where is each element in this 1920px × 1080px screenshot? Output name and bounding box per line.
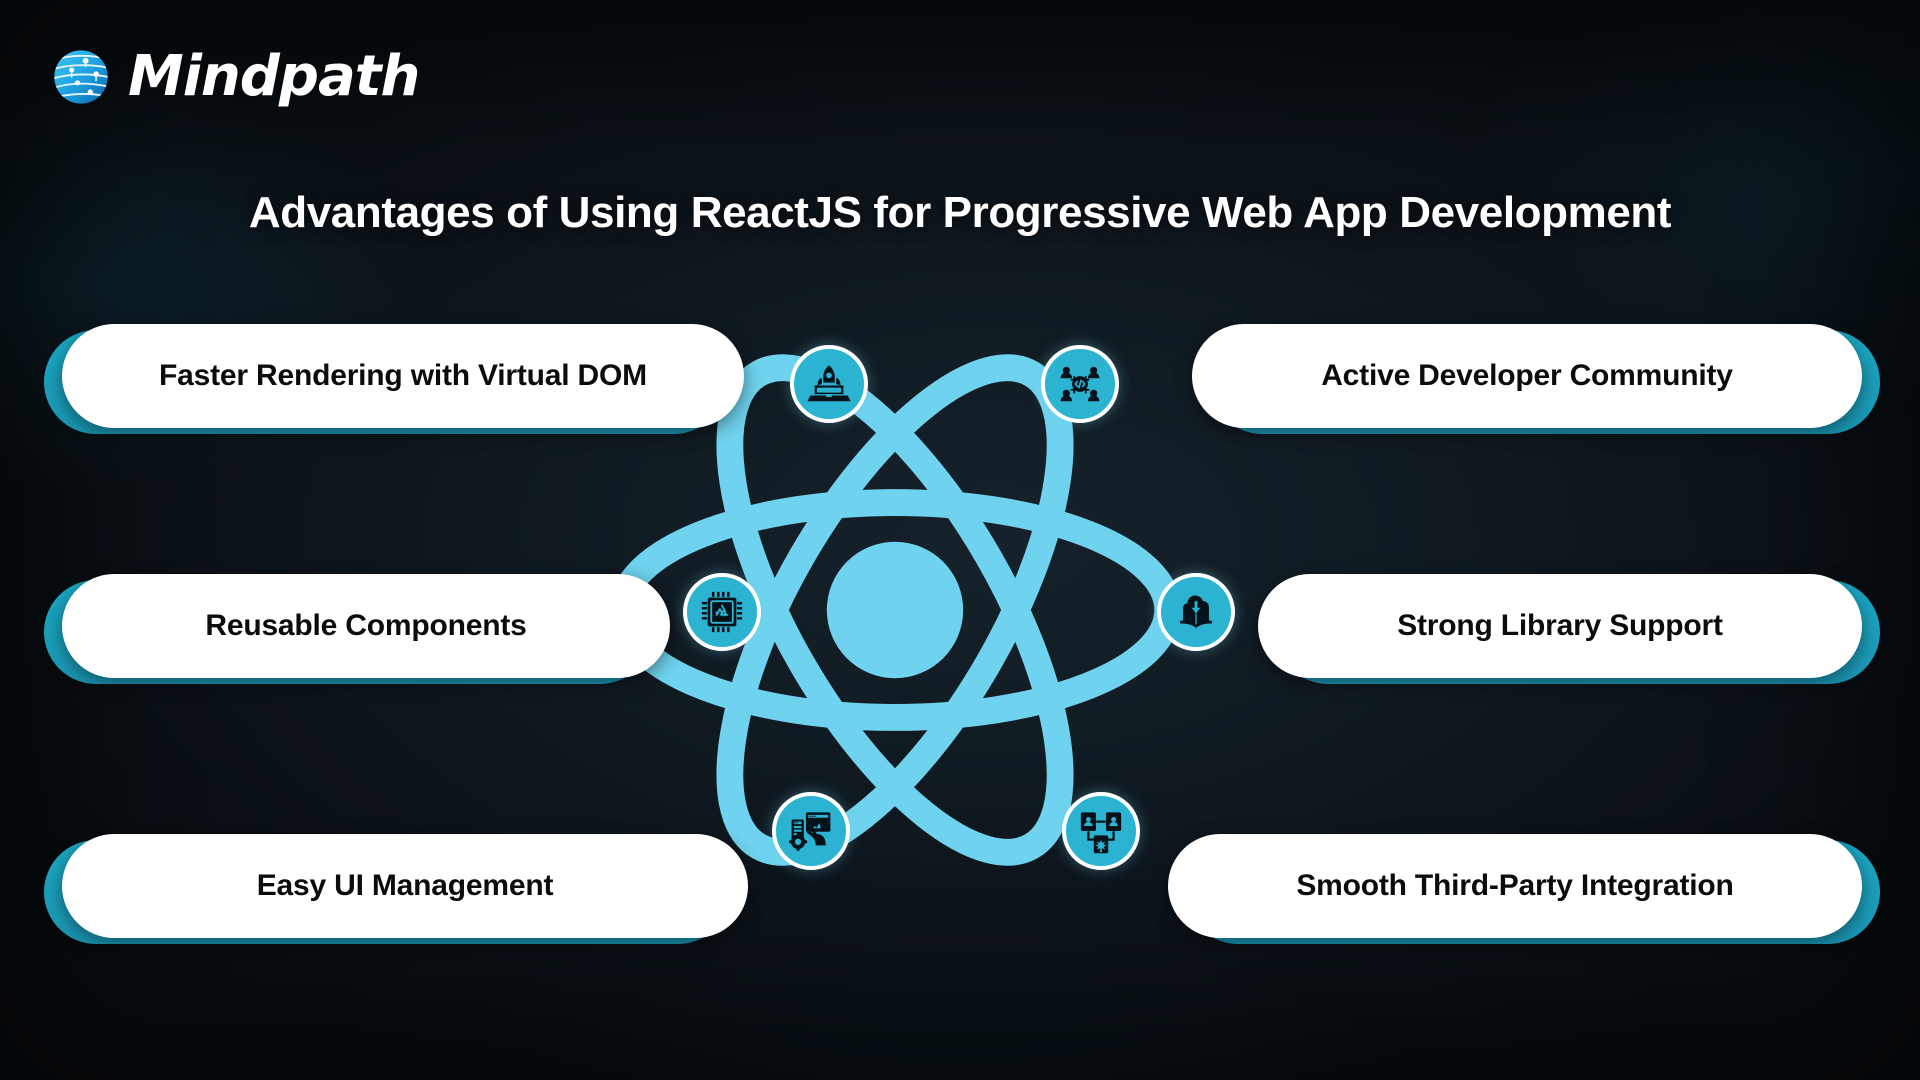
card-body: Easy UI Management: [62, 834, 748, 938]
developer-network-code-icon: [1057, 361, 1103, 407]
advantage-card-strong-library-support[interactable]: Strong Library Support: [1258, 574, 1880, 678]
advantage-card-reusable-components[interactable]: Reusable Components: [44, 574, 670, 678]
advantage-label: Reusable Components: [62, 609, 670, 643]
advantage-card-easy-ui-management[interactable]: Easy UI Management: [44, 834, 748, 938]
card-body: Faster Rendering with Virtual DOM: [62, 324, 744, 428]
card-body: Smooth Third-Party Integration: [1168, 834, 1862, 938]
card-body: Reusable Components: [62, 574, 670, 678]
globe-circuit-icon: [52, 48, 110, 106]
rocket-laptop-icon: [806, 361, 852, 407]
ui-hand-gear-icon: [788, 808, 834, 854]
badge-developer-community[interactable]: [1041, 345, 1119, 423]
page-title: Advantages of Using ReactJS for Progress…: [0, 188, 1920, 238]
atom-nucleus: [827, 542, 963, 678]
advantage-label: Smooth Third-Party Integration: [1168, 869, 1862, 903]
advantage-label: Faster Rendering with Virtual DOM: [62, 359, 744, 393]
brand-logo: Mindpath: [52, 48, 419, 106]
advantage-label: Easy UI Management: [62, 869, 748, 903]
devices-integration-icon: [1078, 808, 1124, 854]
advantage-label: Strong Library Support: [1258, 609, 1862, 643]
advantage-label: Active Developer Community: [1192, 359, 1862, 393]
book-cloud-download-icon: [1173, 589, 1219, 635]
card-body: Strong Library Support: [1258, 574, 1862, 678]
advantage-card-active-developer-community[interactable]: Active Developer Community: [1192, 324, 1880, 428]
badge-third-party-integration[interactable]: [1062, 792, 1140, 870]
badge-reusable-components[interactable]: [683, 573, 761, 651]
brand-name: Mindpath: [128, 49, 419, 105]
card-body: Active Developer Community: [1192, 324, 1862, 428]
advantage-card-smooth-third-party-integration[interactable]: Smooth Third-Party Integration: [1168, 834, 1880, 938]
chip-recycle-icon: [699, 589, 745, 635]
infographic-slide: Mindpath Advantages of Using ReactJS for…: [0, 0, 1920, 1080]
badge-library-support[interactable]: [1157, 573, 1235, 651]
badge-faster-rendering[interactable]: [790, 345, 868, 423]
badge-easy-ui-management[interactable]: [772, 792, 850, 870]
advantage-card-faster-rendering[interactable]: Faster Rendering with Virtual DOM: [44, 324, 744, 428]
